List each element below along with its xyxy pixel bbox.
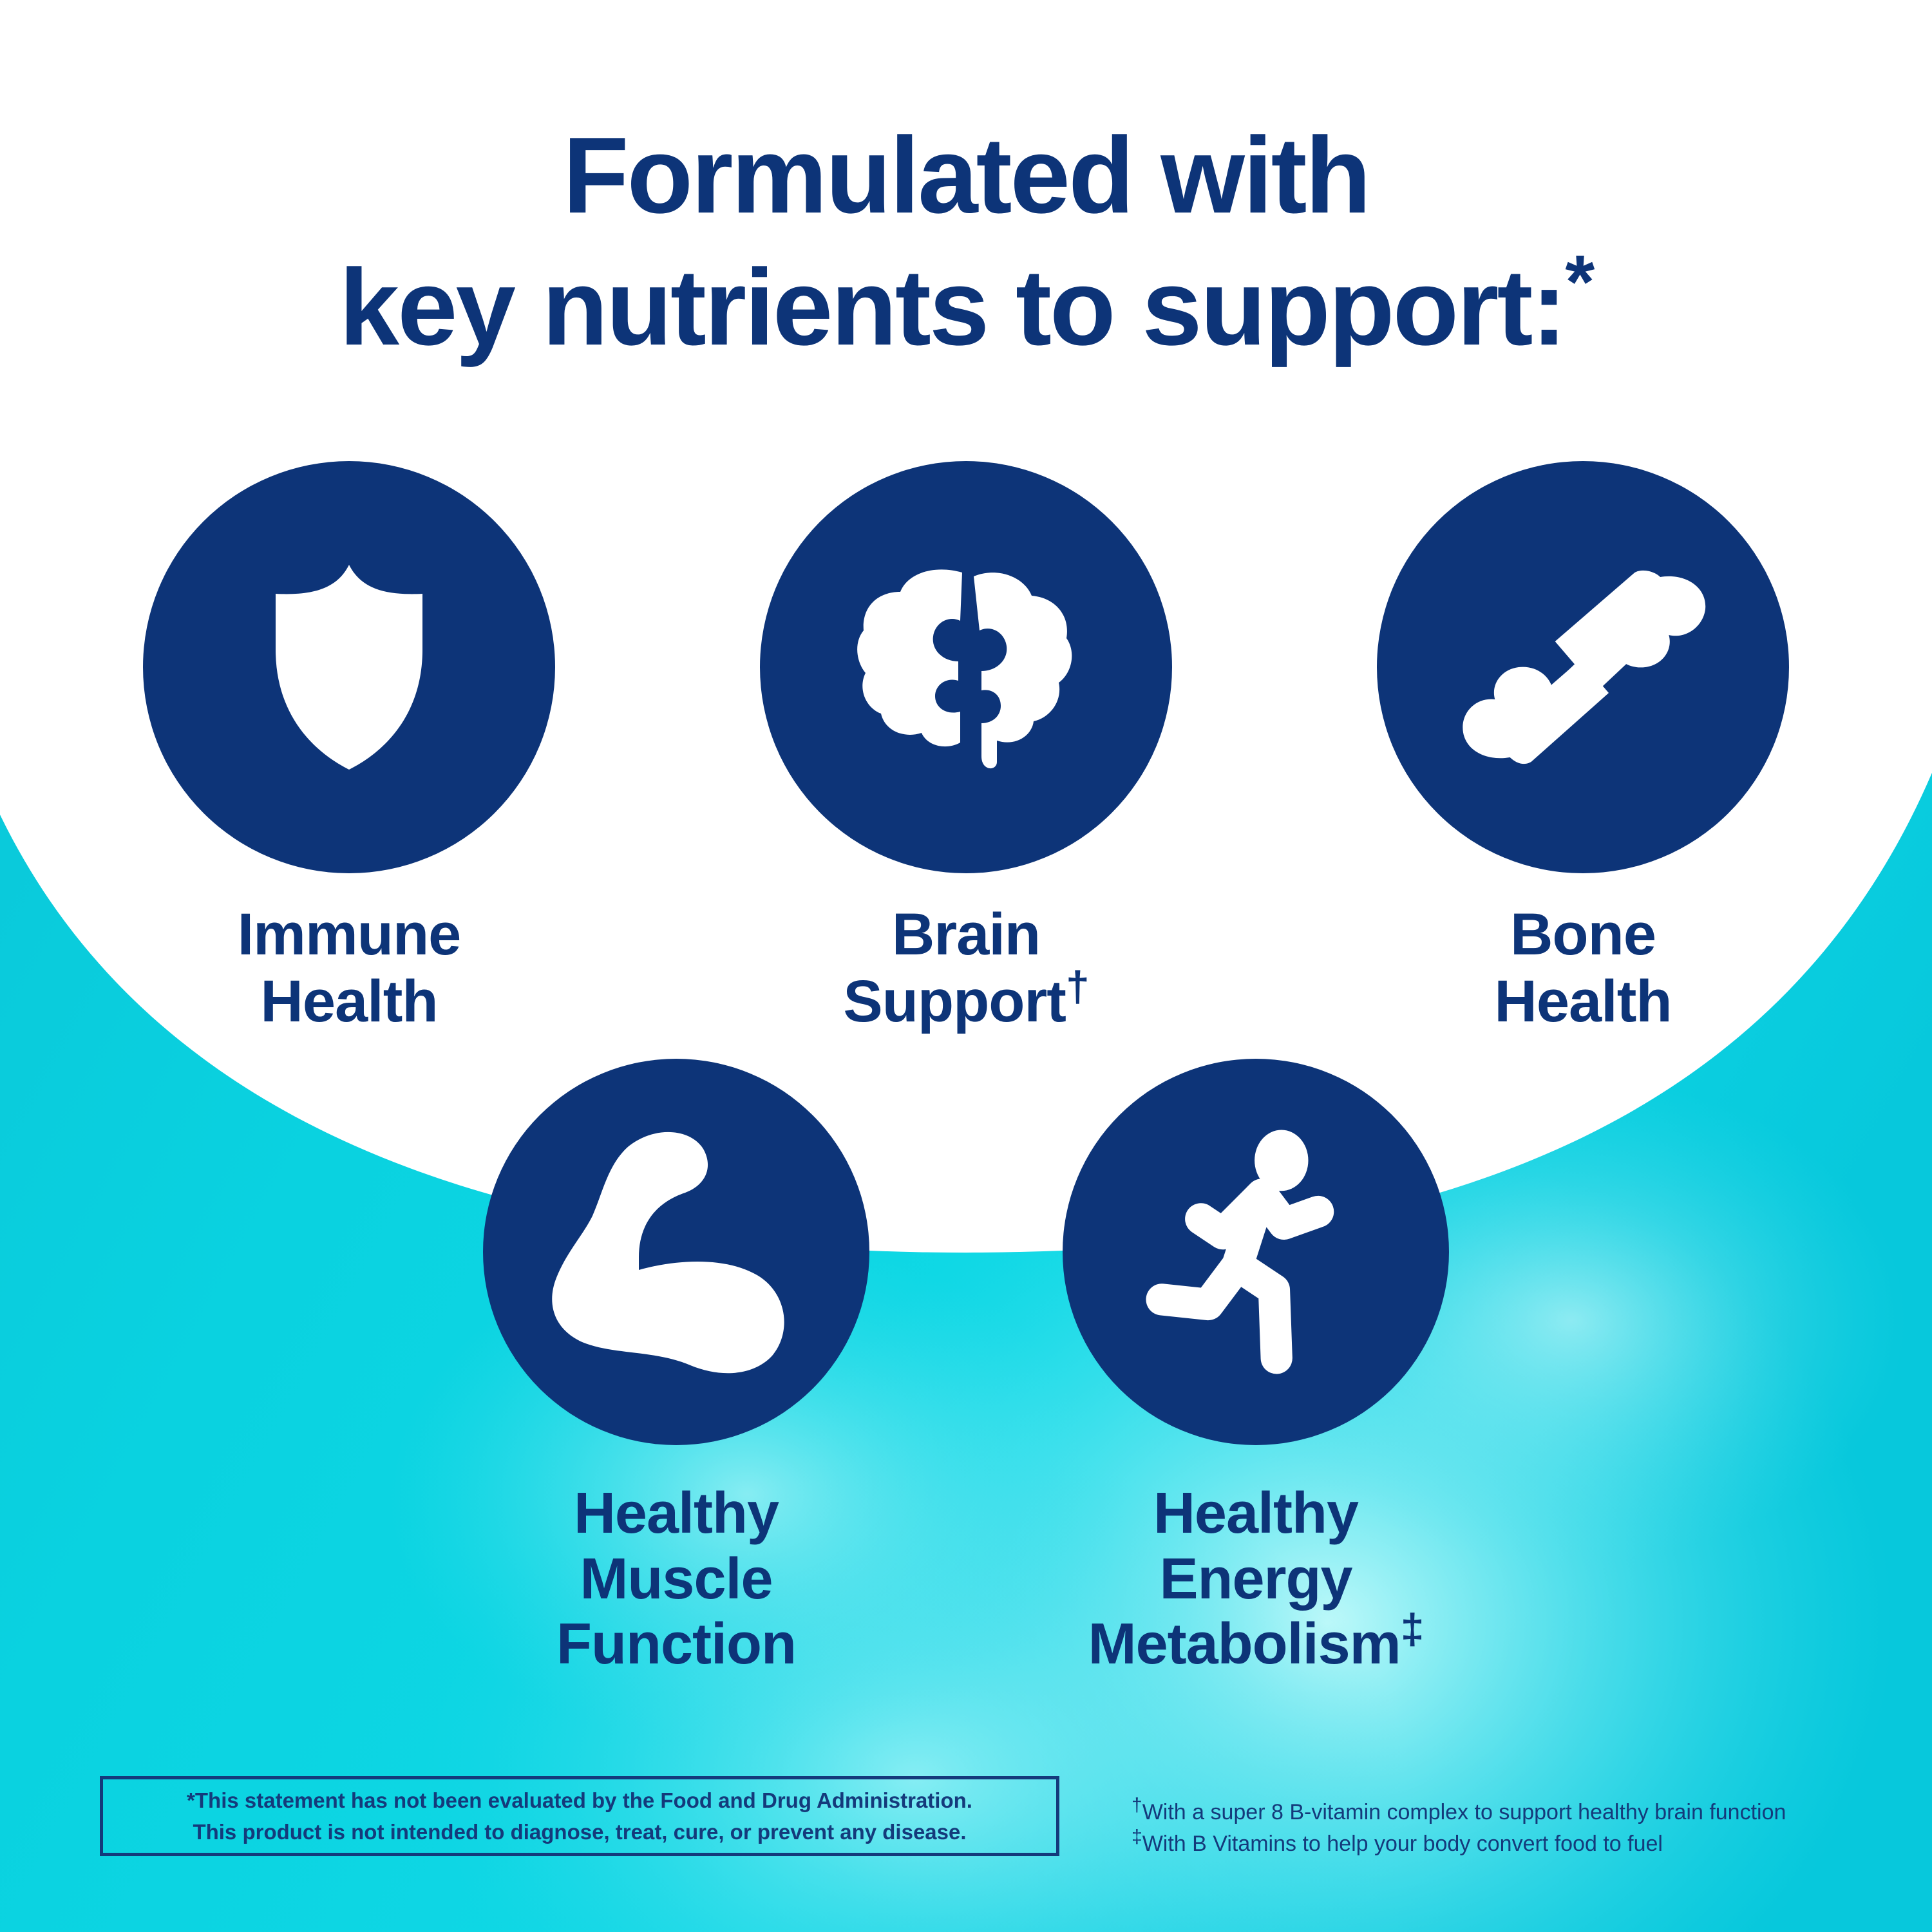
footnote-2-marker: ‡: [1132, 1826, 1142, 1848]
headline-line-1: Formulated with: [0, 109, 1932, 241]
benefits-row-top: Immune Health Brain Support†: [0, 461, 1932, 1036]
benefit-immune-health[interactable]: Immune Health: [143, 461, 555, 1036]
benefit-bone-health[interactable]: Bone Health: [1377, 461, 1789, 1036]
running-person-icon: [1140, 1123, 1372, 1381]
icon-disc: [1377, 461, 1789, 873]
page-title: Formulated with key nutrients to support…: [0, 109, 1932, 374]
fda-disclaimer-box: *This statement has not been evaluated b…: [100, 1776, 1059, 1856]
shield-icon: [252, 561, 446, 773]
fda-disclaimer-text: *This statement has not been evaluated b…: [187, 1785, 972, 1848]
benefit-caption: Healthy Energy Metabolism‡: [1063, 1481, 1449, 1678]
benefit-caption: Immune Health: [238, 902, 461, 1036]
headline-asterisk: *: [1565, 240, 1593, 325]
icon-disc: [483, 1059, 869, 1445]
footnote-1-marker: †: [1132, 1795, 1142, 1816]
benefit-healthy-muscle-function[interactable]: Healthy Muscle Function: [483, 1059, 869, 1678]
benefit-caption: Healthy Muscle Function: [483, 1481, 869, 1678]
brain-icon: [850, 561, 1082, 773]
benefit-caption: Bone Health: [1494, 902, 1671, 1036]
benefit-caption: Brain Support†: [843, 902, 1088, 1036]
benefit-brain-support[interactable]: Brain Support†: [760, 461, 1172, 1036]
footnote-1-text: With a super 8 B-vitamin complex to supp…: [1142, 1800, 1786, 1824]
benefits-row-bottom: Healthy Muscle Function Healthy Energy M…: [0, 1059, 1932, 1678]
bone-icon: [1454, 551, 1712, 783]
footnote-2-text: With B Vitamins to help your body conver…: [1142, 1832, 1663, 1856]
icon-disc: [1063, 1059, 1449, 1445]
benefit-healthy-energy-metabolism[interactable]: Healthy Energy Metabolism‡: [1063, 1059, 1449, 1678]
icon-disc: [760, 461, 1172, 873]
footnote-marker-double-dagger: ‡: [1401, 1605, 1424, 1653]
icon-disc: [143, 461, 555, 873]
footnote-marker-dagger: †: [1066, 962, 1089, 1010]
flexed-bicep-icon: [541, 1123, 811, 1381]
footnotes-block: †With a super 8 B-vitamin complex to sup…: [1132, 1797, 1904, 1861]
footnote-1: †With a super 8 B-vitamin complex to sup…: [1132, 1797, 1904, 1828]
headline-line-2: key nutrients to support:*: [0, 241, 1932, 374]
footnote-2: ‡With B Vitamins to help your body conve…: [1132, 1828, 1904, 1860]
